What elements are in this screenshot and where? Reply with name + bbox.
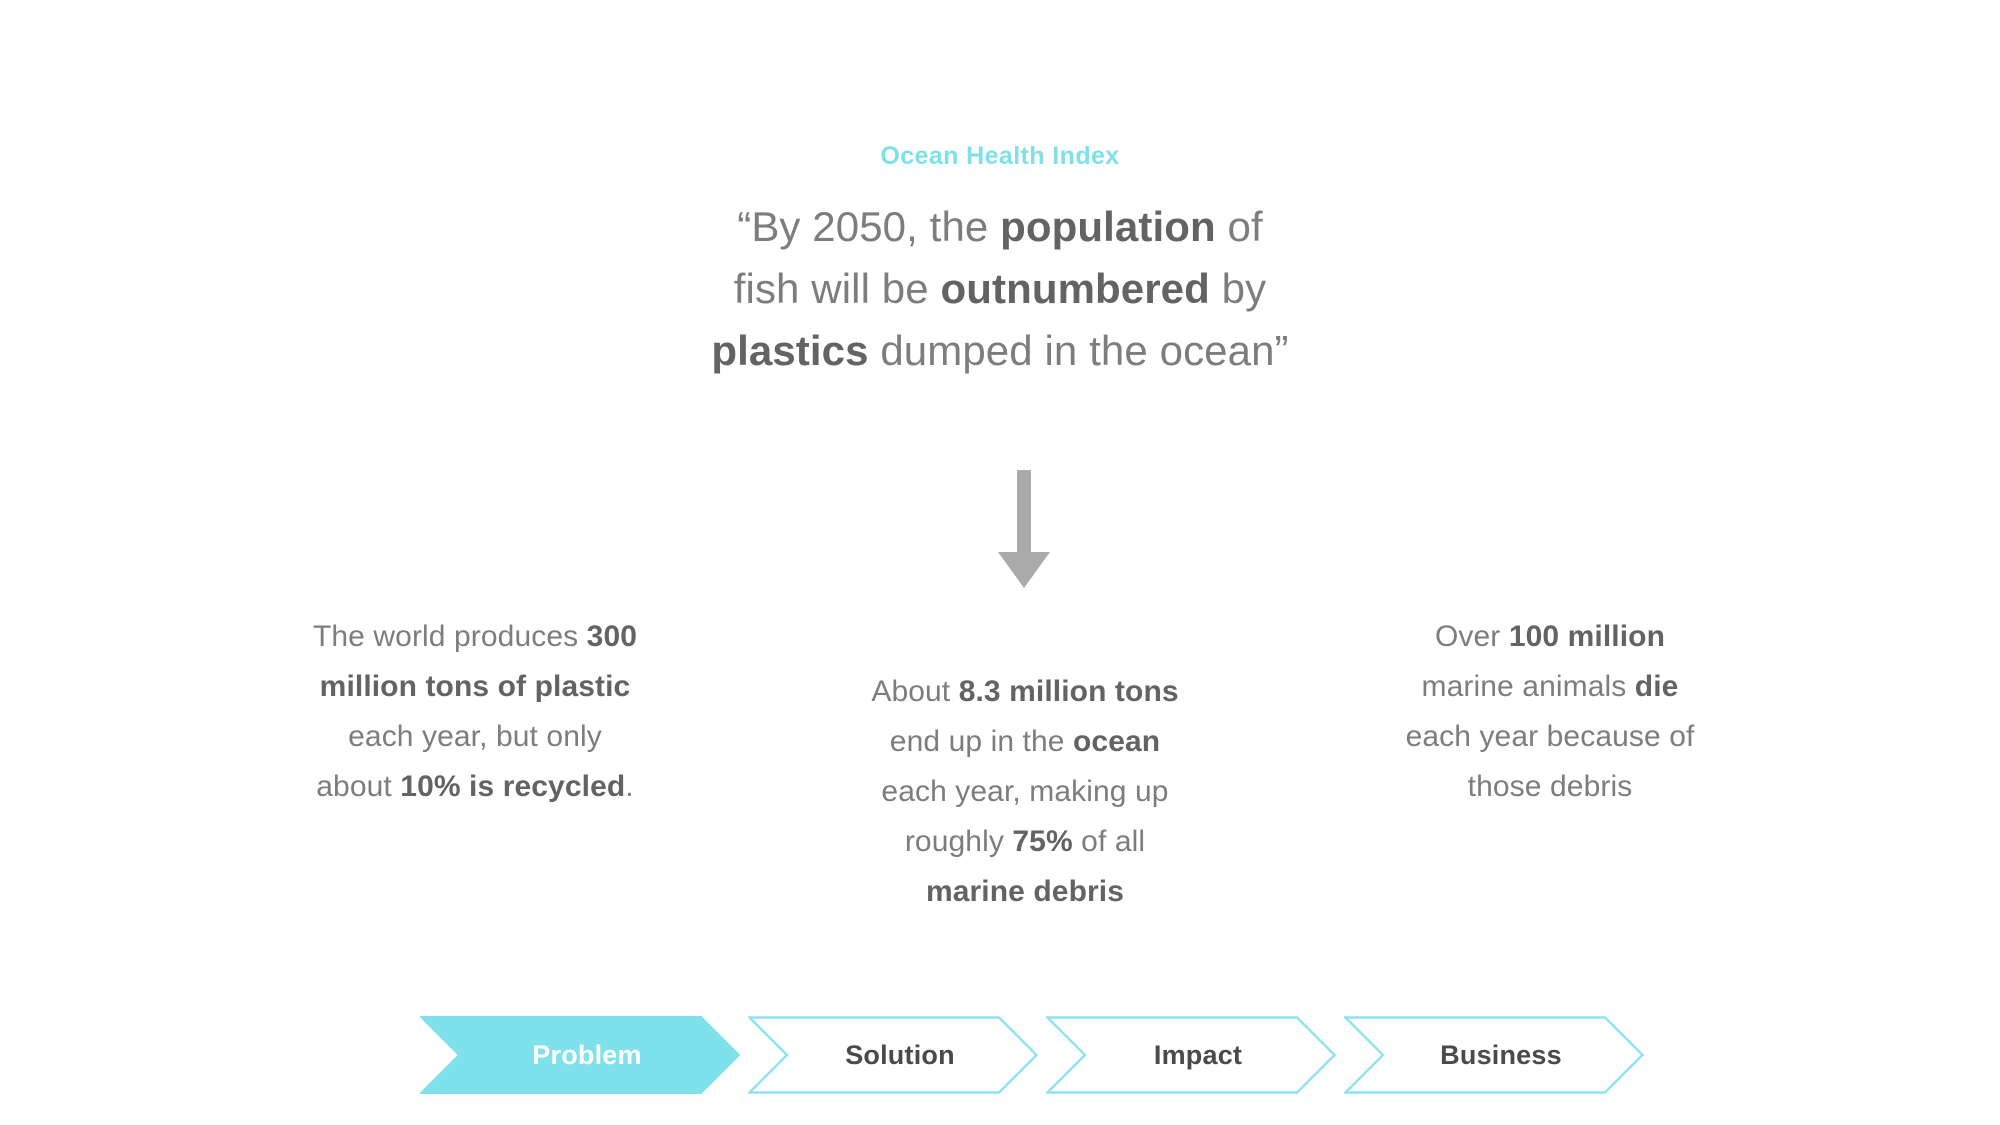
down-arrow-shape — [998, 470, 1050, 588]
source-label: Ocean Health Index — [0, 140, 2000, 173]
emphasis-text: 75% — [1012, 825, 1072, 858]
body-text: Over — [1435, 620, 1509, 653]
emphasis-text: 10% is recycled — [400, 770, 625, 803]
text-line: plastics dumped in the ocean” — [0, 320, 2000, 382]
down-arrow — [978, 470, 1070, 590]
emphasis-text: 100 million — [1509, 620, 1665, 653]
body-text: “By 2050, the — [737, 203, 1000, 250]
text-line: “By 2050, the population of — [0, 196, 2000, 258]
stat-block-ocean-debris: About 8.3 million tonsend up in the ocea… — [790, 667, 1260, 917]
nav-step-problem[interactable]: Problem — [420, 1016, 740, 1094]
emphasis-text: marine debris — [926, 875, 1124, 908]
text-line: fish will be outnumbered by — [0, 258, 2000, 320]
emphasis-text: plastics — [711, 327, 868, 374]
body-text: The world produces — [313, 620, 587, 653]
body-text: each year because of — [1406, 720, 1695, 753]
emphasis-text: 8.3 million tons — [959, 675, 1179, 708]
body-text: each year, making up — [881, 775, 1168, 808]
emphasis-text: ocean — [1073, 725, 1160, 758]
text-line: roughly 75% of all — [790, 817, 1260, 867]
text-line: about 10% is recycled. — [225, 762, 725, 812]
emphasis-text: 300 — [587, 620, 637, 653]
body-text: those debris — [1468, 770, 1633, 803]
text-line: end up in the ocean — [790, 717, 1260, 767]
body-text: fish will be — [734, 265, 941, 312]
emphasis-text: million tons of plastic — [320, 670, 631, 703]
body-text: roughly — [905, 825, 1013, 858]
body-text: each year, but only — [348, 720, 602, 753]
body-text: about — [316, 770, 400, 803]
text-line: The world produces 300 — [225, 612, 725, 662]
text-line: marine animals die — [1330, 662, 1770, 712]
text-line: each year because of — [1330, 712, 1770, 762]
text-line: marine debris — [790, 867, 1260, 917]
stat-block-production: The world produces 300million tons of pl… — [225, 612, 725, 812]
body-text: dumped in the ocean” — [869, 327, 1289, 374]
pull-quote: “By 2050, the population offish will be … — [0, 196, 2000, 382]
text-line: each year, but only — [225, 712, 725, 762]
slide-canvas: Ocean Health Index “By 2050, the populat… — [0, 0, 2000, 1125]
text-line: Over 100 million — [1330, 612, 1770, 662]
nav-step-impact-label: Impact — [1140, 1040, 1242, 1071]
nav-step-impact[interactable]: Impact — [1046, 1016, 1336, 1094]
text-line: each year, making up — [790, 767, 1260, 817]
body-text: of all — [1073, 825, 1145, 858]
emphasis-text: population — [1000, 203, 1216, 250]
nav-step-business[interactable]: Business — [1344, 1016, 1644, 1094]
text-line: About 8.3 million tons — [790, 667, 1260, 717]
nav-step-business-label: Business — [1426, 1040, 1562, 1071]
text-line: million tons of plastic — [225, 662, 725, 712]
nav-step-solution[interactable]: Solution — [748, 1016, 1038, 1094]
text-line: those debris — [1330, 762, 1770, 812]
section-stepper-nav: Problem Solution Impact Business — [420, 1016, 1644, 1094]
body-text: by — [1210, 265, 1266, 312]
nav-step-problem-label: Problem — [518, 1040, 641, 1071]
body-text: end up in the — [890, 725, 1073, 758]
body-text: marine animals — [1422, 670, 1635, 703]
body-text: of — [1216, 203, 1263, 250]
nav-step-solution-label: Solution — [831, 1040, 955, 1071]
emphasis-text: die — [1635, 670, 1679, 703]
body-text: . — [625, 770, 633, 803]
emphasis-text: outnumbered — [940, 265, 1209, 312]
stat-block-marine-deaths: Over 100 millionmarine animals dieeach y… — [1330, 612, 1770, 812]
body-text: About — [871, 675, 958, 708]
